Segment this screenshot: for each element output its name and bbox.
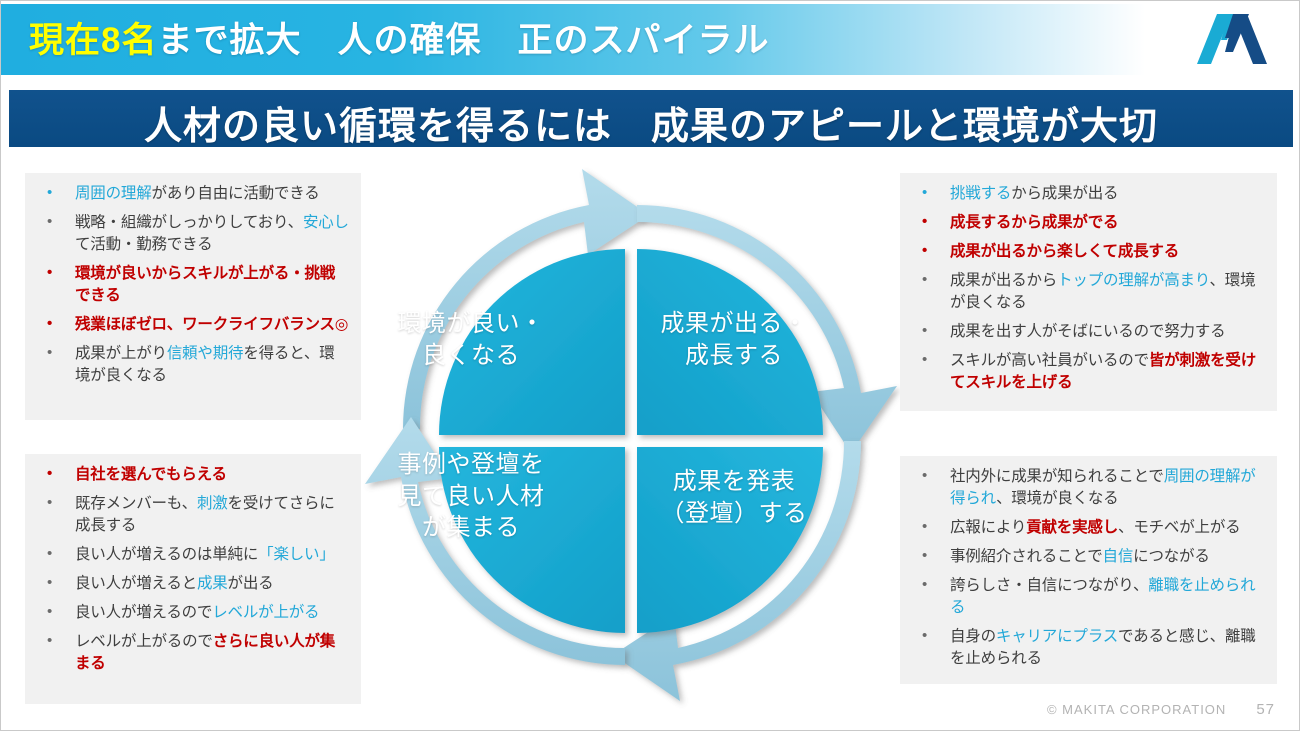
panel-environment-benefits: 周囲の理解があり自由に活動できる戦略・組織がしっかりしており、安心して活動・勤務… [25, 173, 361, 420]
slide-title-bar: 人材の良い循環を得るには 成果のアピールと環境が大切 [9, 90, 1293, 147]
slide-canvas: 現在8名まで拡大 人の確保 正のスパイラル 人材の良い循環を得るには 成果のアピ… [0, 0, 1300, 731]
text-segment: 成果が上がり [75, 345, 167, 362]
text-segment: レベルが上がるので [75, 633, 213, 650]
text-segment: 社内外に成果が知られることで [950, 468, 1164, 485]
list-item: 挑戦するから成果が出る [906, 183, 1265, 205]
list-item: 周囲の理解があり自由に活動できる [31, 183, 349, 205]
header-band: 現在8名まで拡大 人の確保 正のスパイラル [1, 4, 1300, 75]
text-segment: 自社を選んでもらえる [75, 466, 227, 483]
text-segment: 成果が出るから楽しくて成長する [950, 243, 1179, 260]
text-segment: 貢献を実感し [1026, 519, 1118, 536]
text-segment: 残業ほぼゼロ、ワークライフバランス◎ [75, 316, 348, 333]
text-segment: が出る [228, 575, 274, 592]
panel-results-benefits: 挑戦するから成果が出る成長するから成果がでる成果が出るから楽しくて成長する成果が… [900, 173, 1277, 411]
text-segment: 信頼や期待 [167, 345, 244, 362]
panel-talent-benefits: 自社を選んでもらえる既存メンバーも、刺激を受けてさらに成長する良い人が増えるのは… [25, 454, 361, 704]
list-item: 社内外に成果が知られることで周囲の理解が得られ、環境が良くなる [906, 466, 1265, 510]
text-segment: 自信 [1103, 548, 1134, 565]
page-number: 57 [1256, 701, 1275, 718]
list-item: 戦略・組織がしっかりしており、安心して活動・勤務できる [31, 212, 349, 256]
text-segment: につながる [1133, 548, 1210, 565]
list-item: スキルが高い社員がいるので皆が刺激を受けてスキルを上げる [906, 350, 1265, 394]
text-segment: 安心し [303, 214, 348, 231]
header-title: 現在8名まで拡大 人の確保 正のスパイラル [29, 12, 769, 63]
bullet-list: 自社を選んでもらえる既存メンバーも、刺激を受けてさらに成長する良い人が増えるのは… [31, 464, 349, 675]
cycle-diagram: 環境が良い・ 良くなる 成果が出る・ 成長する 事例や登壇を 見て良い人材 が集… [357, 161, 905, 709]
list-item: 成果を出す人がそばにいるので努力する [906, 321, 1265, 343]
text-segment: 広報により [950, 519, 1026, 536]
text-segment: 良い人が増えるのは単純に [75, 546, 258, 563]
text-segment: 周囲の理解 [75, 185, 152, 202]
slide-title-text: 人材の良い循環を得るには 成果のアピールと環境が大切 [9, 95, 1293, 150]
text-segment: 戦略・組織がしっかりしており、 [75, 214, 303, 231]
panel-presentation-benefits: 社内外に成果が知られることで周囲の理解が得られ、環境が良くなる広報により貢献を実… [900, 456, 1277, 684]
text-segment: 自身の [950, 628, 996, 645]
list-item: 誇らしさ・自信につながり、離職を止められる [906, 575, 1265, 619]
header-title-rest: まで拡大 人の確保 正のスパイラル [157, 21, 769, 60]
list-item: レベルが上がるのでさらに良い人が集まる [31, 631, 349, 675]
bullet-list: 社内外に成果が知られることで周囲の理解が得られ、環境が良くなる広報により貢献を実… [906, 466, 1265, 670]
text-segment: 誇らしさ・自信につながり、 [950, 577, 1148, 594]
text-segment: キャリアにプラス [996, 628, 1118, 645]
text-segment: 良い人が増えるので [75, 604, 212, 621]
text-segment: 刺激 [197, 495, 228, 512]
header-title-highlight: 現在8名 [29, 21, 157, 60]
list-item: 環境が良いからスキルが上がる・挑戦できる [31, 263, 349, 307]
text-segment: 環境が良いからスキルが上がる・挑戦できる [75, 265, 335, 304]
text-segment: 挑戦する [950, 185, 1011, 202]
text-segment: 成果を出す人がそばにいるので努力する [950, 323, 1225, 340]
list-item: 成果が上がり信頼や期待を得ると、環境が良くなる [31, 343, 349, 387]
text-segment: て活動・勤務できる [75, 236, 212, 253]
bullet-list: 周囲の理解があり自由に活動できる戦略・組織がしっかりしており、安心して活動・勤務… [31, 183, 349, 387]
copyright-text: © MAKITA CORPORATION [1047, 702, 1226, 717]
list-item: 自社を選んでもらえる [31, 464, 349, 486]
bullet-list: 挑戦するから成果が出る成長するから成果がでる成果が出るから楽しくて成長する成果が… [906, 183, 1265, 394]
list-item: 良い人が増えるのでレベルが上がる [31, 602, 349, 624]
text-segment: 「楽しい」 [258, 546, 335, 563]
text-segment: から成果が出る [1011, 185, 1118, 202]
text-segment: 成長するから成果がでる [950, 214, 1118, 231]
list-item: 事例紹介されることで自信につながる [906, 546, 1265, 568]
text-segment: 良い人が増えると [75, 575, 197, 592]
makita-m-logo-icon [1197, 12, 1269, 64]
list-item: 成果が出るから楽しくて成長する [906, 241, 1265, 263]
list-item: 良い人が増えると成果が出る [31, 573, 349, 595]
list-item: 広報により貢献を実感し、モチベが上がる [906, 517, 1265, 539]
wedge-label-results: 成果が出る・ 成長する [639, 308, 829, 371]
footer: © MAKITA CORPORATION57 [1047, 701, 1275, 718]
text-segment: レベルが上がる [212, 604, 319, 621]
text-segment: スキルが高い社員がいるので [950, 352, 1149, 369]
list-item: 成長するから成果がでる [906, 212, 1265, 234]
wedge-label-environment: 環境が良い・ 良くなる [376, 308, 566, 371]
list-item: 成果が出るからトップの理解が高まり、環境が良くなる [906, 270, 1265, 314]
list-item: 自身のキャリアにプラスであると感じ、離職を止められる [906, 626, 1265, 670]
text-segment: があり自由に活動できる [152, 185, 320, 202]
text-segment: 事例紹介されることで [950, 548, 1103, 565]
text-segment: 、モチベが上がる [1118, 519, 1240, 536]
list-item: 残業ほぼゼロ、ワークライフバランス◎ [31, 314, 349, 336]
list-item: 既存メンバーも、刺激を受けてさらに成長する [31, 493, 349, 537]
wedge-label-presentation: 成果を発表 （登壇）する [639, 466, 829, 529]
text-segment: 成果が出るから [950, 272, 1057, 289]
wedge-label-talent: 事例や登壇を 見て良い人材 が集まる [376, 449, 566, 544]
text-segment: 既存メンバーも、 [75, 495, 197, 512]
text-segment: 、環境が良くなる [996, 490, 1118, 507]
list-item: 良い人が増えるのは単純に「楽しい」 [31, 544, 349, 566]
text-segment: トップの理解が高まり [1057, 272, 1209, 289]
text-segment: 成果 [197, 575, 228, 592]
